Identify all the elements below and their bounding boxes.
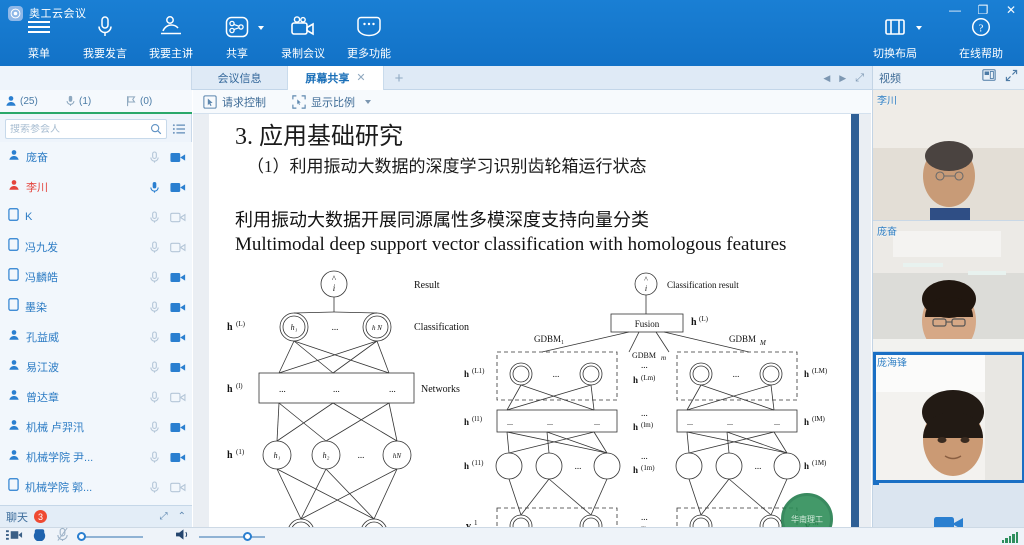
participant-name: 冯麟皓 [25, 269, 140, 285]
svg-text:h: h [691, 317, 697, 328]
tab-nav-group: ◀ ▶ ⤢ [815, 66, 872, 90]
participant-stats-row: (25) (1) (0) [0, 90, 192, 114]
slide-line-en: Multimodal deep support vector classific… [235, 234, 835, 255]
svg-text:h: h [633, 375, 638, 385]
svg-text:...: ... [641, 451, 648, 461]
menu-button[interactable]: 菜单 [6, 14, 72, 61]
phone-icon [8, 478, 19, 496]
display-ratio-chevron-down-icon[interactable] [365, 100, 371, 104]
video-tile-panghaifeng[interactable]: 庞海锋 [873, 352, 1024, 483]
participant-camera-icon[interactable] [169, 392, 186, 403]
switch-layout-label: 切换布局 [873, 45, 917, 61]
participant-camera-icon[interactable] [169, 182, 186, 193]
tab-meeting-info[interactable]: 会议信息 [192, 66, 288, 90]
svg-text:GDBM: GDBM [632, 351, 656, 360]
svg-text:...: ... [279, 384, 286, 394]
participant-mic-icon[interactable] [146, 331, 163, 344]
tab-prev-icon[interactable]: ◀ [823, 74, 830, 83]
participant-mic-icon[interactable] [146, 451, 163, 464]
svg-text:(L): (L) [699, 315, 709, 323]
participant-name: 易江波 [26, 359, 140, 375]
microphone-volume-slider[interactable] [77, 532, 143, 542]
participant-camera-icon[interactable] [169, 152, 186, 163]
person-icon [8, 358, 20, 376]
phone-icon [8, 208, 19, 226]
present-label: 我要主讲 [149, 45, 193, 61]
video-panel-title: 视频 [879, 70, 901, 86]
svg-text:...: ... [547, 418, 553, 427]
microphone-icon [65, 95, 76, 107]
microphone-muted-icon[interactable] [56, 527, 69, 545]
participant-mic-icon[interactable] [146, 421, 163, 434]
tab-screen-share-label: 屏幕共享 [305, 70, 349, 86]
search-icon [150, 123, 162, 135]
host-person-icon [8, 178, 20, 196]
participant-camera-icon[interactable] [169, 422, 186, 433]
mic-count[interactable]: (1) [65, 95, 123, 107]
svg-text:h: h [804, 369, 809, 379]
speaker-icon[interactable] [175, 528, 191, 545]
svg-text:(l): (l) [236, 382, 243, 390]
svg-text:...: ... [727, 418, 733, 427]
video-panel-header: 视频 [873, 66, 1024, 90]
svg-text:h N: h N [372, 324, 382, 332]
participant-name: 机械学院 郭... [25, 479, 140, 495]
svg-text:...: ... [733, 369, 740, 379]
share-label: 共享 [226, 45, 248, 61]
participant-mic-icon[interactable] [146, 271, 163, 284]
person-icon [8, 148, 20, 166]
participant-row[interactable]: 冯麟皓 [0, 262, 192, 292]
phone-icon [8, 238, 19, 256]
participant-name: 庞奋 [26, 149, 140, 165]
slide-line-cn: 利用振动大数据开展同源属性多模深度支持向量分类 [235, 206, 649, 232]
phone-icon [8, 268, 19, 286]
scale-box-icon [292, 95, 306, 109]
participant-name: 机械 卢羿汛 [26, 419, 140, 435]
video-panel: 视频 李川 [872, 66, 1024, 545]
speaker-slider-knob[interactable] [243, 532, 252, 541]
participant-row[interactable]: 李川 [0, 172, 192, 202]
participant-mic-icon[interactable] [146, 361, 163, 374]
participant-mic-icon[interactable] [146, 151, 163, 164]
svg-text:1: 1 [474, 519, 478, 527]
top-toolbar: 奥工云会议 — ❐ ✕ 菜单 [0, 0, 1024, 66]
participant-row[interactable]: 庞奋 [0, 142, 192, 172]
svg-text:...: ... [641, 512, 648, 522]
video-tile-panghaifeng-label: 庞海锋 [877, 354, 907, 369]
person-icon [8, 418, 20, 436]
signal-strength-icon [1002, 531, 1019, 543]
share-toolbar: 请求控制 显示比例 [193, 90, 871, 114]
participant-list[interactable]: 庞奋李川K冯九发冯麟皓墨染孔益威易江波曾达章机械 卢羿汛机械学院 尹...机械学… [0, 142, 192, 505]
participant-name: 机械学院 尹... [26, 449, 140, 465]
more-dots-icon [355, 14, 383, 40]
tab-close-icon[interactable]: ✕ [356, 73, 365, 84]
tab-meeting-info-label: 会议信息 [218, 70, 262, 86]
participant-name: 李川 [26, 179, 140, 195]
svg-text:h: h [633, 422, 638, 432]
participant-name: 曾达章 [26, 389, 140, 405]
svg-text:h: h [804, 461, 809, 471]
svg-text:(L1): (L1) [472, 367, 485, 375]
svg-text:(Lm): (Lm) [641, 374, 656, 382]
more-button[interactable]: 更多功能 [336, 14, 402, 61]
svg-text:...: ... [594, 418, 600, 427]
svg-text:h₂: h₂ [323, 451, 330, 460]
svg-text:...: ... [687, 418, 693, 427]
participant-camera-icon[interactable] [169, 452, 186, 463]
share-chevron-down-icon[interactable] [258, 26, 264, 30]
person-icon [8, 388, 20, 406]
help-circle-icon: ? [969, 14, 993, 40]
participant-name: 冯九发 [25, 239, 140, 255]
person-icon [5, 95, 17, 107]
display-ratio-label: 显示比例 [311, 94, 355, 110]
toolbar-right-group: 切换布局 ? 在线帮助 [862, 14, 1014, 61]
svg-text:i: i [333, 283, 336, 293]
chat-bar[interactable]: 聊天 3 ⤢ ⌃ [0, 505, 192, 527]
svg-text:(l1): (l1) [472, 415, 483, 423]
phone-icon [8, 298, 19, 316]
svg-text:GDBM: GDBM [729, 334, 756, 344]
tab-add-button[interactable]: + [386, 66, 412, 90]
raised-hand-count[interactable]: (0) [125, 95, 183, 107]
video-camera-icon [289, 14, 317, 40]
record-button[interactable]: 录制会议 [270, 14, 336, 61]
svg-text:...: ... [358, 450, 365, 460]
gallery-icon[interactable] [982, 68, 996, 87]
person-icon [8, 448, 20, 466]
svg-text:h: h [227, 450, 233, 461]
mic-slider-track [77, 536, 143, 538]
svg-text:hN: hN [393, 452, 402, 460]
svg-text:...: ... [332, 322, 339, 332]
participant-row[interactable]: 机械学院 尹... [0, 442, 192, 472]
tab-screen-share[interactable]: 屏幕共享 ✕ [288, 66, 384, 90]
mic-slider-knob[interactable] [77, 532, 86, 541]
participant-mic-icon[interactable] [146, 301, 163, 314]
search-input[interactable] [10, 124, 150, 135]
participant-camera-icon[interactable] [169, 272, 186, 283]
person-icon [8, 328, 20, 346]
video-tile-pangfen-label: 庞奋 [877, 223, 897, 238]
layout-icon [882, 14, 908, 40]
svg-text:(1m): (1m) [641, 464, 655, 472]
svg-text:Networks: Networks [421, 384, 460, 395]
share-button[interactable]: 共享 [204, 14, 270, 61]
online-help-button[interactable]: ? 在线帮助 [948, 14, 1014, 61]
svg-text:h: h [227, 322, 233, 333]
speaker-volume-slider[interactable] [199, 532, 265, 542]
participant-name: 墨染 [25, 299, 140, 315]
svg-text:^: ^ [644, 275, 648, 284]
shared-screen-stage[interactable]: 3. 应用基础研究 （1）利用振动大数据的深度学习识别齿轮箱运行状态 利用振动大… [193, 114, 871, 545]
svg-text:(1): (1) [236, 448, 245, 456]
participant-row[interactable]: 易江波 [0, 352, 192, 382]
speak-label: 我要发言 [83, 45, 127, 61]
svg-text:Classification: Classification [414, 322, 469, 333]
share-nodes-icon [224, 14, 250, 40]
hamburger-menu-icon [26, 14, 52, 40]
svg-text:(lM): (lM) [812, 415, 826, 423]
svg-text:Classification result: Classification result [667, 280, 739, 290]
menu-label: 菜单 [28, 45, 50, 61]
network-diagrams-svg: ^ i Result h₁ h N ... h (L) Classificati… [209, 270, 859, 545]
svg-text:?: ? [979, 22, 984, 34]
slide-heading: 3. 应用基础研究 [235, 116, 403, 151]
svg-text:m: m [661, 354, 666, 362]
record-label: 录制会议 [281, 45, 325, 61]
slide-figures: ^ i Result h₁ h N ... h (L) Classificati… [209, 270, 859, 545]
participant-count[interactable]: (25) [5, 95, 63, 107]
search-box[interactable] [5, 119, 167, 139]
participant-row[interactable]: 墨染 [0, 292, 192, 322]
tab-next-icon[interactable]: ▶ [839, 74, 846, 83]
participant-camera-icon[interactable] [169, 212, 186, 223]
list-view-icon[interactable] [171, 123, 187, 135]
svg-text:h: h [227, 384, 233, 395]
chat-unread-badge: 3 [34, 510, 47, 523]
participant-search-row [0, 116, 192, 142]
video-tile-lichuan[interactable]: 李川 [873, 90, 1024, 221]
seal-text: 华南理工 [791, 514, 823, 525]
chevron-up-icon[interactable]: ⌃ [178, 511, 186, 522]
svg-text:(11): (11) [472, 459, 484, 467]
chat-actions: ⤢ ⌃ [160, 511, 186, 522]
participant-name: K [25, 211, 140, 223]
switch-layout-button[interactable]: 切换布局 [862, 14, 928, 61]
svg-text:(lm): (lm) [641, 421, 654, 429]
microphone-icon [95, 14, 115, 40]
svg-text:h₁: h₁ [274, 451, 281, 460]
svg-text:...: ... [389, 384, 396, 394]
popout-arrow-icon[interactable]: ⤢ [160, 511, 168, 522]
participant-camera-icon[interactable] [169, 332, 186, 343]
svg-text:h₁: h₁ [291, 323, 298, 332]
display-ratio-button[interactable]: 显示比例 [292, 94, 371, 110]
svg-text:...: ... [774, 418, 780, 427]
svg-text:...: ... [755, 461, 762, 471]
participant-row[interactable]: 孔益威 [0, 322, 192, 352]
expand-arrows-icon[interactable] [1005, 69, 1018, 87]
chat-label: 聊天 [6, 509, 28, 525]
participant-row[interactable]: 机械 卢羿汛 [0, 412, 192, 442]
svg-text:...: ... [641, 408, 648, 418]
bottom-status-bar [0, 527, 1024, 545]
svg-text:(LM): (LM) [812, 367, 828, 375]
participant-camera-icon[interactable] [169, 362, 186, 373]
speak-button[interactable]: 我要发言 [72, 14, 138, 61]
video-panel-actions [982, 68, 1018, 87]
request-control-button[interactable]: 请求控制 [203, 94, 266, 110]
present-button[interactable]: 我要主讲 [138, 14, 204, 61]
camera-on-icon[interactable] [31, 527, 48, 545]
participant-mic-icon[interactable] [146, 391, 163, 404]
tab-expand-icon[interactable]: ⤢ [855, 73, 864, 84]
layout-chevron-down-icon[interactable] [916, 26, 922, 30]
presentation-slide: 3. 应用基础研究 （1）利用振动大数据的深度学习识别齿轮箱运行状态 利用振动大… [209, 114, 859, 545]
svg-text:...: ... [507, 418, 513, 427]
flag-icon [125, 95, 137, 107]
request-control-label: 请求控制 [222, 94, 266, 110]
svg-text:(1M): (1M) [812, 459, 827, 467]
raised-hand-count-value: (0) [140, 96, 152, 107]
speaker-slider-track [199, 536, 265, 538]
video-list-icon[interactable] [6, 528, 23, 545]
svg-text:M: M [759, 339, 767, 347]
participant-mic-icon[interactable] [146, 211, 163, 224]
svg-text:h: h [464, 369, 469, 379]
svg-text:...: ... [641, 360, 648, 370]
more-label: 更多功能 [347, 45, 391, 61]
presenter-icon [158, 14, 184, 40]
toolbar-left-group: 菜单 我要发言 [6, 14, 402, 61]
svg-text:Result: Result [414, 280, 440, 291]
video-tile-lichuan-label: 李川 [877, 92, 897, 107]
participant-row[interactable]: K [0, 202, 192, 232]
participant-camera-icon[interactable] [169, 302, 186, 313]
participant-row[interactable]: 曾达章 [0, 382, 192, 412]
participant-camera-icon[interactable] [169, 482, 186, 493]
participant-camera-icon[interactable] [169, 242, 186, 253]
svg-text:h: h [464, 461, 469, 471]
svg-text:i: i [645, 284, 647, 293]
participant-count-value: (25) [20, 96, 38, 107]
svg-text:h: h [464, 417, 469, 427]
participant-mic-icon[interactable] [146, 481, 163, 494]
video-tile-pangfen[interactable]: 庞奋 [873, 221, 1024, 352]
participant-mic-icon[interactable] [146, 241, 163, 254]
svg-text:...: ... [333, 384, 340, 394]
slide-subheading: （1）利用振动大数据的深度学习识别齿轮箱运行状态 [247, 152, 647, 177]
svg-text:h: h [804, 417, 809, 427]
participant-name: 孔益威 [26, 329, 140, 345]
participant-row[interactable]: 机械学院 郭... [0, 472, 192, 502]
cursor-box-icon [203, 95, 217, 109]
svg-text:...: ... [553, 369, 560, 379]
svg-text:GDBM₁: GDBM₁ [534, 334, 564, 344]
svg-text:h: h [633, 465, 638, 475]
meeting-app-window: 奥工云会议 — ❐ ✕ 菜单 [0, 0, 1024, 545]
svg-text:Fusion: Fusion [635, 319, 660, 329]
mic-count-value: (1) [79, 96, 91, 107]
participant-mic-icon[interactable] [146, 181, 163, 194]
online-help-label: 在线帮助 [959, 45, 1003, 61]
svg-text:...: ... [575, 461, 582, 471]
svg-text:(L): (L) [236, 320, 246, 328]
participant-row[interactable]: 冯九发 [0, 232, 192, 262]
